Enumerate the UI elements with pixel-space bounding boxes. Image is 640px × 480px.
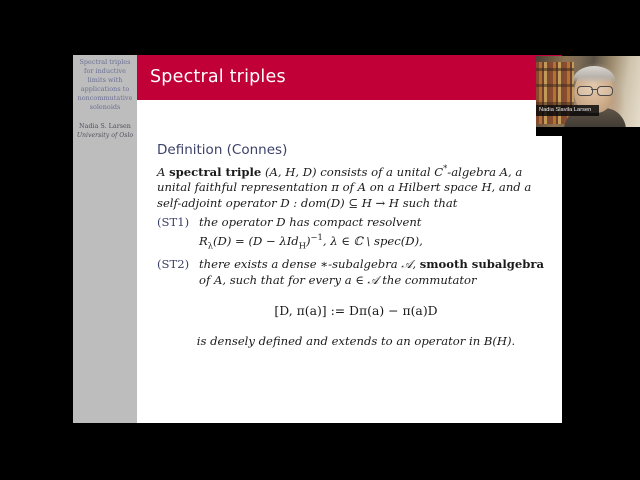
- axiom-item-st2: (ST2) there exists a dense ∗-subalgebra …: [157, 257, 555, 288]
- definition-paragraph: A spectral triple (A, H, D) consists of …: [157, 161, 555, 212]
- st2-line1-a: there exists a dense ∗-subalgebra: [199, 257, 401, 271]
- slide-title-banner: Spectral triples: [137, 55, 562, 100]
- definition-heading: Definition (Connes): [157, 142, 555, 159]
- eyeglasses-right-lens: [597, 86, 613, 96]
- eyeglasses-bridge: [591, 89, 597, 90]
- slide-sidebar: Spectral triples for inductive limits wi…: [73, 55, 137, 423]
- overlay-mask-top: [562, 55, 640, 56]
- paragraph-bold-term: spectral triple: [169, 165, 261, 179]
- st2-comma: ,: [412, 257, 419, 271]
- st1-expr-d: , λ ∈ ℂ \ spec(D),: [323, 234, 423, 248]
- slide-body: Definition (Connes) A spectral triple (A…: [137, 100, 562, 423]
- presenter-webcam-overlay[interactable]: Nadia Slavila Larsen: [536, 56, 640, 127]
- paragraph-line1-tail: -algebra A, a: [447, 165, 522, 179]
- paragraph-line2: unital faithful representation π of A on…: [157, 180, 521, 194]
- video-player-stage: Spectral triples for inductive limits wi…: [0, 0, 640, 480]
- st1-line2: Rλ(D) = (D − λIdH)−1, λ ∈ ℂ \ spec(D),: [199, 234, 423, 248]
- axiom-body-st1: the operator D has compact resolvent Rλ(…: [199, 215, 555, 254]
- paragraph-lead: A: [157, 165, 165, 179]
- st1-h-sub: H: [299, 240, 306, 250]
- paragraph-line1-rest: (A, H, D) consists of a unital C: [265, 165, 443, 179]
- sidebar-author: Nadia S. Larsen: [76, 122, 134, 131]
- presenter-name-label: Nadia Slavila Larsen: [539, 107, 591, 114]
- eyeglasses-left-lens: [577, 86, 593, 96]
- sidebar-institution: University of Oslo: [76, 131, 134, 140]
- st1-expr-b: (D) = (D − λId: [213, 234, 299, 248]
- st1-line1: the operator D has compact resolvent: [199, 215, 421, 229]
- st2-script-a: 𝒜: [401, 257, 412, 271]
- sidebar-talk-title: Spectral triples for inductive limits wi…: [76, 58, 134, 113]
- display-equation: [D, π(a)] := Dπ(a) − π(a)D: [157, 302, 555, 320]
- st1-inverse-sup: −1: [311, 232, 323, 242]
- st2-bold-term: smooth subalgebra: [420, 257, 544, 271]
- axiom-tag-st2: (ST2): [157, 257, 199, 273]
- slide-content: Definition (Connes) A spectral triple (A…: [157, 142, 555, 349]
- slide-title: Spectral triples: [150, 67, 286, 87]
- axiom-tag-st1: (ST1): [157, 215, 199, 231]
- st1-r: R: [199, 234, 208, 248]
- st2-line2: of A, such that for every a ∈ 𝒜 the comm…: [199, 273, 477, 287]
- axiom-body-st2: there exists a dense ∗-subalgebra 𝒜, smo…: [199, 257, 555, 288]
- presenter-name-bar: Nadia Slavila Larsen: [536, 105, 599, 116]
- presentation-slide: Spectral triples for inductive limits wi…: [73, 55, 562, 423]
- axiom-item-st1: (ST1) the operator D has compact resolve…: [157, 215, 555, 254]
- closing-sentence: is densely defined and extends to an ope…: [157, 333, 555, 349]
- overlay-mask-bottom: [536, 127, 640, 136]
